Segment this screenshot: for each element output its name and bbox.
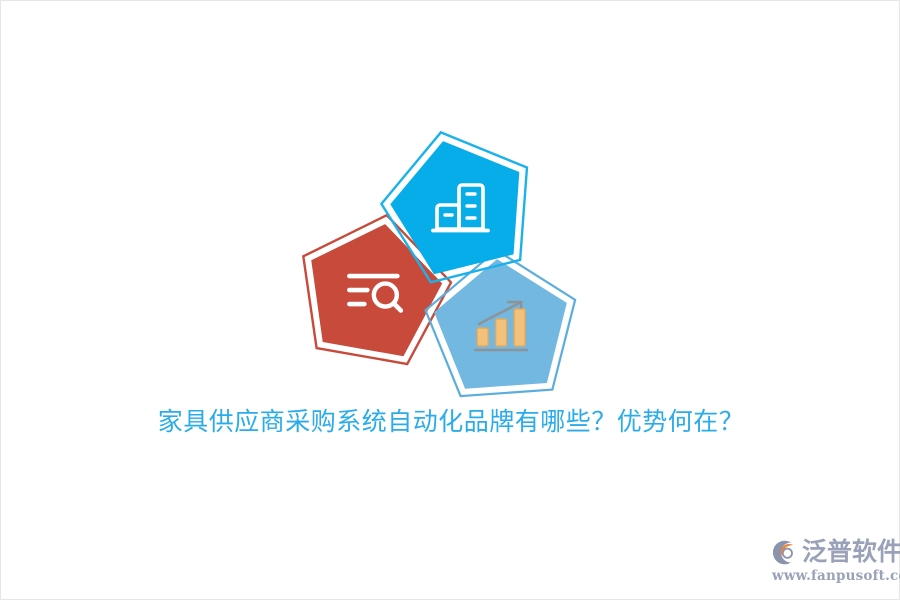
brand-logo-row: 泛普软件 (769, 535, 897, 569)
brand-watermark: 泛普软件 www.fanpusoft.com (769, 535, 897, 591)
fanpu-logo-mark-icon (769, 537, 800, 568)
brand-name: 泛普软件 (802, 538, 900, 566)
page-title: 家具供应商采购系统自动化品牌有哪些？优势何在？ (1, 405, 900, 439)
page-canvas: 家具供应商采购系统自动化品牌有哪些？优势何在？ 泛普软件 www.fanpuso… (0, 0, 900, 600)
pentagon-cluster-graphic (297, 129, 597, 414)
brand-website-url: www.fanpusoft.com (772, 568, 897, 584)
